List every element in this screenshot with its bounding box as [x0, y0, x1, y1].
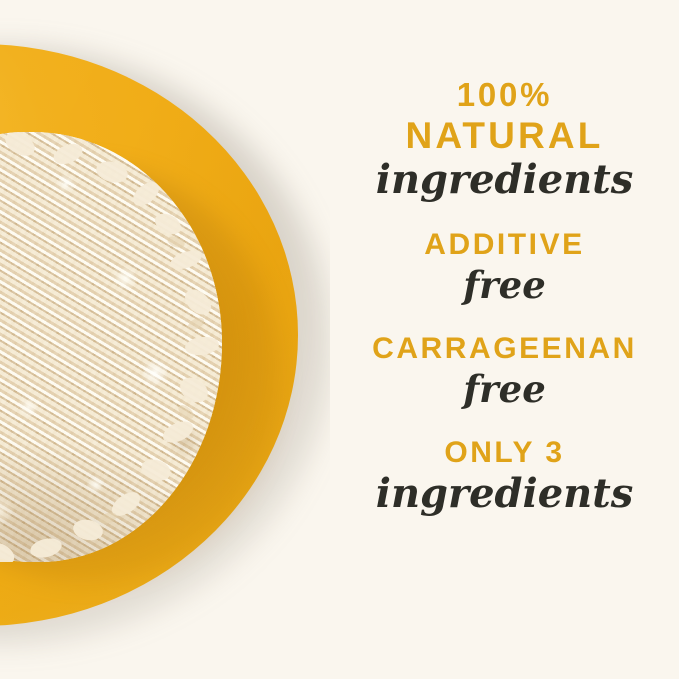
claim-carrageenan-free: CARRAGEENAN free [330, 334, 679, 408]
claim-caps-line: CARRAGEENAN [330, 334, 679, 364]
claim-script-line: free [330, 267, 679, 304]
claim-script-line: ingredients [330, 160, 679, 200]
claims-list: 100% NATURAL ingredients ADDITIVE free C… [330, 0, 679, 679]
claim-caps-line: NATURAL [330, 117, 679, 154]
product-photo [0, 0, 330, 679]
product-claims-graphic: 100% NATURAL ingredients ADDITIVE free C… [0, 0, 679, 679]
claim-additive-free: ADDITIVE free [330, 230, 679, 304]
claim-caps-line: 100% [330, 78, 679, 111]
claim-only-3-ingredients: ONLY 3 ingredients [330, 438, 679, 514]
claim-caps-line: ADDITIVE [330, 230, 679, 260]
shredded-chicken-mound [0, 132, 222, 562]
claim-script-line: ingredients [330, 474, 679, 514]
claim-caps-line: ONLY 3 [330, 438, 679, 468]
claim-script-line: free [330, 371, 679, 408]
claim-natural-ingredients: 100% NATURAL ingredients [330, 78, 679, 200]
